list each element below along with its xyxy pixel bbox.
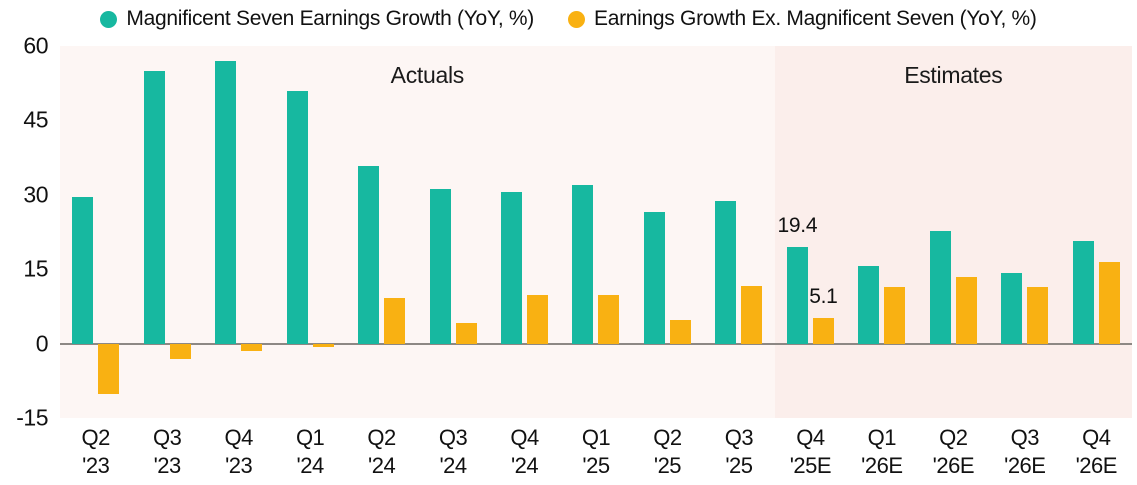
bar-ex-mag7[interactable]: [741, 286, 762, 344]
x-tick-quarter: Q3: [153, 424, 181, 452]
x-tick-year: '26E: [1076, 452, 1117, 480]
bar-group: [846, 46, 917, 418]
y-axis-tick-label: 60: [23, 33, 48, 60]
circle-marker-icon: [568, 11, 585, 28]
bar-group: 19.45.1: [775, 46, 846, 418]
legend-item-ex-mag7: Earnings Growth Ex. Magnificent Seven (Y…: [568, 7, 1037, 31]
bar-value-label: 19.4: [778, 214, 818, 238]
bar-ex-mag7[interactable]: [313, 344, 334, 347]
bar-ex-mag7[interactable]: [384, 298, 405, 344]
bar-ex-mag7[interactable]: [527, 295, 548, 344]
x-tick-year: '25: [725, 452, 753, 480]
bar-mag7[interactable]: [572, 185, 593, 344]
x-tick-quarter: Q2: [367, 424, 395, 452]
bar-ex-mag7[interactable]: [1099, 262, 1120, 343]
y-axis-tick-label: 30: [23, 181, 48, 208]
x-tick-quarter: Q2: [653, 424, 681, 452]
bar-group: [274, 46, 345, 418]
bar-mag7[interactable]: [287, 91, 308, 344]
bar-ex-mag7[interactable]: [670, 320, 691, 343]
bar-mag7[interactable]: [930, 231, 951, 344]
bar-mag7[interactable]: [715, 201, 736, 343]
bar-mag7[interactable]: [358, 166, 379, 344]
bar-mag7[interactable]: [430, 189, 451, 344]
x-tick-quarter: Q4: [510, 424, 538, 452]
bar-mag7[interactable]: [1001, 273, 1022, 344]
y-axis-tick-label: -15: [16, 405, 48, 432]
bar-group: [918, 46, 989, 418]
x-tick-year: '26E: [861, 452, 902, 480]
x-tick-year: '25: [653, 452, 681, 480]
bar-ex-mag7[interactable]: [884, 287, 905, 344]
x-tick-quarter: Q2: [82, 424, 110, 452]
bar-mag7[interactable]: [501, 192, 522, 343]
bar-ex-mag7[interactable]: [813, 318, 834, 343]
bar-mag7[interactable]: [72, 197, 93, 344]
bar-ex-mag7[interactable]: [241, 344, 262, 351]
x-axis-tick-label: Q3'25: [725, 424, 753, 480]
legend-item-label: Magnificent Seven Earnings Growth (YoY, …: [126, 7, 534, 31]
x-axis-tick-label: Q3'26E: [1004, 424, 1045, 480]
bar-group: [417, 46, 488, 418]
bar-mag7[interactable]: [787, 247, 808, 343]
x-tick-quarter: Q4: [224, 424, 252, 452]
y-axis-tick-label: 45: [23, 107, 48, 134]
x-tick-year: '25: [582, 452, 610, 480]
x-tick-quarter: Q2: [933, 424, 974, 452]
bar-group: [203, 46, 274, 418]
x-axis-tick-label: Q3'24: [439, 424, 467, 480]
x-axis-tick-label: Q4'23: [224, 424, 252, 480]
bar-value-label: 5.1: [809, 285, 837, 309]
x-tick-year: '23: [153, 452, 181, 480]
bar-mag7[interactable]: [144, 71, 165, 344]
x-tick-quarter: Q1: [582, 424, 610, 452]
x-axis-tick-label: Q1'24: [296, 424, 324, 480]
x-axis-tick-label: Q4'24: [510, 424, 538, 480]
x-tick-quarter: Q3: [439, 424, 467, 452]
x-tick-quarter: Q4: [790, 424, 831, 452]
bar-group: [632, 46, 703, 418]
x-axis-tick-label: Q1'25: [582, 424, 610, 480]
x-tick-year: '24: [510, 452, 538, 480]
x-tick-year: '26E: [1004, 452, 1045, 480]
legend-item-label: Earnings Growth Ex. Magnificent Seven (Y…: [594, 7, 1037, 31]
bar-mag7[interactable]: [215, 61, 236, 344]
chart-legend: Magnificent Seven Earnings Growth (YoY, …: [0, 0, 1137, 38]
bar-mag7[interactable]: [1073, 241, 1094, 343]
bar-ex-mag7[interactable]: [1027, 287, 1048, 344]
bar-group: [60, 46, 131, 418]
bar-ex-mag7[interactable]: [956, 277, 977, 344]
chart-plot-frame: 604530150-15 Actuals Estimates 19.45.1 Q…: [0, 38, 1137, 485]
x-axis-tick-label: Q2'24: [367, 424, 395, 480]
bar-ex-mag7[interactable]: [598, 295, 619, 343]
x-tick-year: '24: [367, 452, 395, 480]
bar-group: [989, 46, 1060, 418]
x-axis-tick-label: Q4'25E: [790, 424, 831, 480]
x-axis-tick-label: Q2'23: [82, 424, 110, 480]
bar-mag7[interactable]: [858, 266, 879, 344]
x-axis-tick-label: Q2'25: [653, 424, 681, 480]
x-tick-quarter: Q4: [1076, 424, 1117, 452]
bar-group: [703, 46, 774, 418]
x-tick-quarter: Q3: [1004, 424, 1045, 452]
plot-area: Actuals Estimates 19.45.1: [60, 46, 1132, 418]
bar-ex-mag7[interactable]: [170, 344, 191, 360]
bar-ex-mag7[interactable]: [456, 323, 477, 343]
x-tick-quarter: Q3: [725, 424, 753, 452]
x-tick-year: '26E: [933, 452, 974, 480]
bar-group: [346, 46, 417, 418]
bar-mag7[interactable]: [644, 212, 665, 343]
x-tick-year: '24: [439, 452, 467, 480]
x-axis-tick-label: Q4'26E: [1076, 424, 1117, 480]
x-tick-year: '24: [296, 452, 324, 480]
circle-marker-icon: [100, 11, 117, 28]
bar-group: [1061, 46, 1132, 418]
legend-item-mag7: Magnificent Seven Earnings Growth (YoY, …: [100, 7, 534, 31]
x-tick-year: '23: [82, 452, 110, 480]
bar-group: [560, 46, 631, 418]
y-axis-tick-label: 0: [36, 330, 48, 357]
x-tick-quarter: Q1: [861, 424, 902, 452]
y-axis: 604530150-15: [0, 38, 57, 418]
bar-group: [489, 46, 560, 418]
bar-group: [131, 46, 202, 418]
x-axis-tick-label: Q2'26E: [933, 424, 974, 480]
x-axis-tick-label: Q3'23: [153, 424, 181, 480]
x-axis-tick-label: Q1'26E: [861, 424, 902, 480]
bar-ex-mag7[interactable]: [98, 344, 119, 395]
x-tick-year: '23: [224, 452, 252, 480]
x-tick-quarter: Q1: [296, 424, 324, 452]
x-tick-year: '25E: [790, 452, 831, 480]
x-axis: Q2'23Q3'23Q4'23Q1'24Q2'24Q3'24Q4'24Q1'25…: [60, 424, 1132, 485]
y-axis-tick-label: 15: [23, 256, 48, 283]
